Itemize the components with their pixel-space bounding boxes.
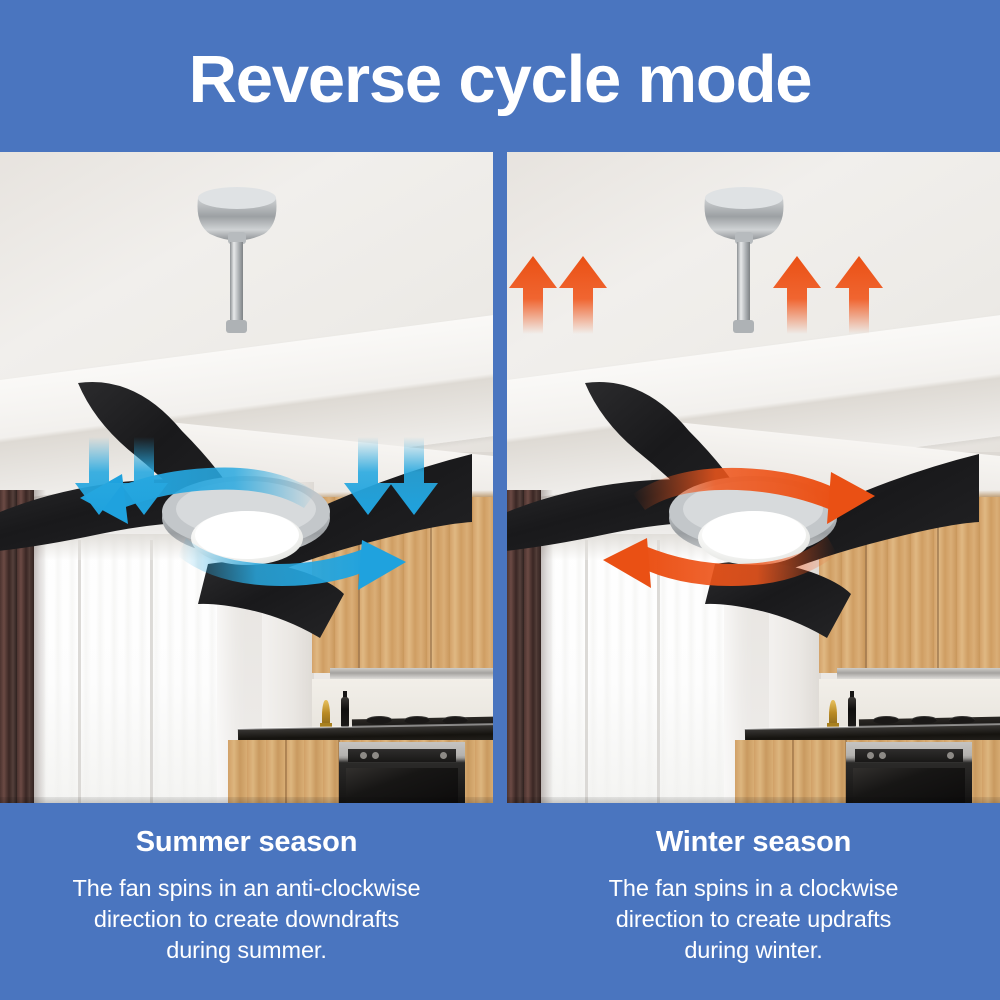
page-title: Reverse cycle mode xyxy=(189,46,812,113)
panel-winter xyxy=(507,152,1000,803)
caption-winter-body: The fan spins in a clockwise direction t… xyxy=(507,873,1000,967)
reverse-cycle-mode-poster: Reverse cycle mode xyxy=(0,0,1000,1000)
captions-area: Summer season The fan spins in an anti-c… xyxy=(0,803,1000,1000)
caption-summer-title: Summer season xyxy=(0,827,493,859)
caption-summer-line2: direction to create downdrafts xyxy=(24,904,469,935)
airflow-arrow-down-icon xyxy=(344,437,392,515)
airflow-arrow-up-icon xyxy=(559,256,607,334)
caption-winter-line3: during winter. xyxy=(531,935,976,966)
caption-winter-title: Winter season xyxy=(507,827,1000,859)
rotation-arrow-bottom-icon xyxy=(178,538,406,590)
panel-summer xyxy=(0,152,493,803)
caption-winter-line2: direction to create updrafts xyxy=(531,904,976,935)
rotation-arrow-top-icon xyxy=(633,468,875,524)
caption-summer-body: The fan spins in an anti-clockwise direc… xyxy=(0,873,493,967)
rotation-arrow-bottom-icon xyxy=(603,536,837,588)
airflow-arrow-down-icon xyxy=(390,437,438,515)
airflow-arrow-up-icon xyxy=(509,256,557,334)
caption-winter-line1: The fan spins in a clockwise xyxy=(531,873,976,904)
airflow-arrows-summer xyxy=(0,152,493,803)
airflow-arrow-up-icon xyxy=(773,256,821,334)
header-banner: Reverse cycle mode xyxy=(0,0,1000,152)
airflow-arrows-winter xyxy=(507,152,1000,803)
caption-summer: Summer season The fan spins in an anti-c… xyxy=(0,803,493,1000)
comparison-panels xyxy=(0,152,1000,803)
caption-summer-line1: The fan spins in an anti-clockwise xyxy=(24,873,469,904)
caption-summer-line3: during summer. xyxy=(24,935,469,966)
rotation-arrow-top-icon xyxy=(80,468,316,525)
caption-winter: Winter season The fan spins in a clockwi… xyxy=(507,803,1000,1000)
airflow-arrow-up-icon xyxy=(835,256,883,334)
